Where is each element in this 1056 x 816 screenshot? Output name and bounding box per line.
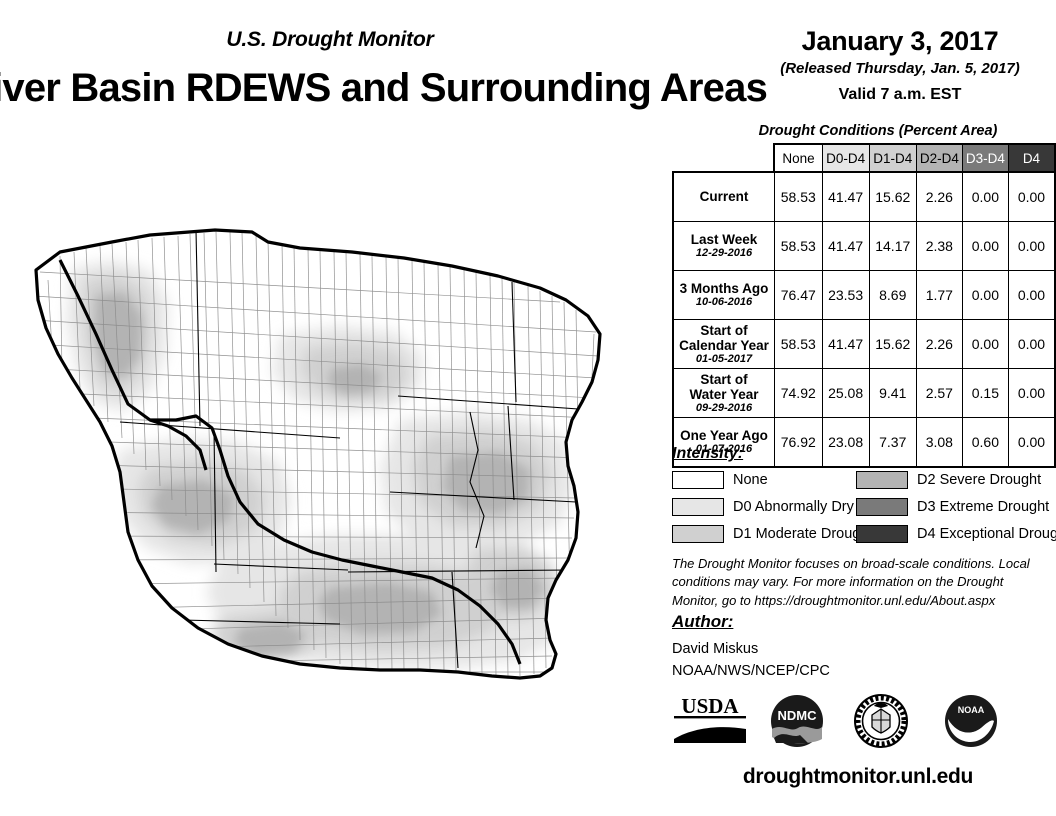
intensity-legend-left: None D0 Abnormally Dry D1 Moderate Droug… xyxy=(672,468,872,549)
cell-current-none: 58.53 xyxy=(774,172,822,222)
valid-time: Valid 7 a.m. EST xyxy=(744,86,1056,104)
col-header-d1d4: D1-D4 xyxy=(869,144,916,172)
table-header-row: None D0-D4 D1-D4 D2-D4 D3-D4 D4 xyxy=(673,144,1055,172)
table-body: Current 58.53 41.47 15.62 2.26 0.00 0.00… xyxy=(673,172,1055,467)
disclaimer-text: The Drought Monitor focuses on broad-sca… xyxy=(672,555,1052,610)
svg-text:USDA: USDA xyxy=(681,694,739,718)
intensity-legend-right: D2 Severe Drought D3 Extreme Drought D4 … xyxy=(856,468,1056,549)
page-supertitle: U.S. Drought Monitor xyxy=(0,28,660,52)
cell-current-d3d4: 0.00 xyxy=(962,172,1008,222)
legend-label-d4: D4 Exceptional Drought xyxy=(917,526,1056,542)
cell-calyear-d3d4: 0.00 xyxy=(962,320,1008,369)
intensity-heading: Intensity: xyxy=(672,445,743,463)
legend-item-d1: D1 Moderate Drought xyxy=(672,522,872,546)
row-label-start-water-year: Start of Water Year 09-29-2016 xyxy=(673,369,774,418)
row-label-3-months-ago: 3 Months Ago 10-06-2016 xyxy=(673,271,774,320)
table-corner-cell xyxy=(673,144,774,172)
cell-wateryear-d4: 0.00 xyxy=(1008,369,1055,418)
table-row: Last Week 12-29-2016 58.53 41.47 14.17 2… xyxy=(673,222,1055,271)
legend-label-d3: D3 Extreme Drought xyxy=(917,499,1049,515)
col-header-d3d4: D3-D4 xyxy=(962,144,1008,172)
cell-3months-d1d4: 8.69 xyxy=(869,271,916,320)
col-header-none: None xyxy=(774,144,822,172)
row-label-text: 3 Months Ago xyxy=(680,281,769,296)
cell-oneyear-d2d4: 3.08 xyxy=(916,418,962,468)
table-header: None D0-D4 D1-D4 D2-D4 D3-D4 D4 xyxy=(673,144,1055,172)
swatch-d3-icon xyxy=(856,498,908,516)
cell-calyear-d4: 0.00 xyxy=(1008,320,1055,369)
legend-label-d0: D0 Abnormally Dry xyxy=(733,499,854,515)
row-label-last-week: Last Week 12-29-2016 xyxy=(673,222,774,271)
cell-lastweek-d4: 0.00 xyxy=(1008,222,1055,271)
cell-3months-d4: 0.00 xyxy=(1008,271,1055,320)
cell-calyear-none: 58.53 xyxy=(774,320,822,369)
row-label-date: 09-29-2016 xyxy=(677,402,771,414)
cell-oneyear-d0d4: 23.08 xyxy=(822,418,869,468)
valid-date: January 3, 2017 xyxy=(744,26,1056,57)
row-label-date: 12-29-2016 xyxy=(677,247,771,259)
cell-wateryear-d2d4: 2.57 xyxy=(916,369,962,418)
cell-lastweek-d2d4: 2.38 xyxy=(916,222,962,271)
cell-lastweek-none: 58.53 xyxy=(774,222,822,271)
cell-wateryear-d0d4: 25.08 xyxy=(822,369,869,418)
author-heading: Author: xyxy=(672,612,733,632)
col-header-d0d4: D0-D4 xyxy=(822,144,869,172)
usda-logo: USDA xyxy=(670,693,750,754)
row-label-line2: Calendar Year xyxy=(679,338,769,353)
cell-current-d4: 0.00 xyxy=(1008,172,1055,222)
table-row: 3 Months Ago 10-06-2016 76.47 23.53 8.69… xyxy=(673,271,1055,320)
col-header-d2d4: D2-D4 xyxy=(916,144,962,172)
table-row: Current 58.53 41.47 15.62 2.26 0.00 0.00 xyxy=(673,172,1055,222)
swatch-d2-icon xyxy=(856,471,908,489)
row-label-date: 10-06-2016 xyxy=(677,296,771,308)
cell-current-d0d4: 41.47 xyxy=(822,172,869,222)
legend-item-d2: D2 Severe Drought xyxy=(856,468,1056,492)
cell-oneyear-none: 76.92 xyxy=(774,418,822,468)
drought-map[interactable] xyxy=(0,120,660,810)
drought-conditions-table: None D0-D4 D1-D4 D2-D4 D3-D4 D4 Current … xyxy=(672,143,1056,468)
table-caption: Drought Conditions (Percent Area) xyxy=(700,123,1056,139)
cell-current-d2d4: 2.26 xyxy=(916,172,962,222)
legend-label-d1: D1 Moderate Drought xyxy=(733,526,872,542)
date-block: January 3, 2017 (Released Thursday, Jan.… xyxy=(744,26,1056,77)
cell-3months-d0d4: 23.53 xyxy=(822,271,869,320)
cell-calyear-d2d4: 2.26 xyxy=(916,320,962,369)
swatch-d4-icon xyxy=(856,525,908,543)
cell-wateryear-d3d4: 0.15 xyxy=(962,369,1008,418)
row-label-line1: Start of xyxy=(700,323,747,338)
doc-seal-logo xyxy=(852,693,910,754)
cell-lastweek-d3d4: 0.00 xyxy=(962,222,1008,271)
author-info: David Miskus NOAA/NWS/NCEP/CPC xyxy=(672,639,830,683)
svg-text:NDMC: NDMC xyxy=(778,708,818,723)
cell-wateryear-d1d4: 9.41 xyxy=(869,369,916,418)
cell-oneyear-d3d4: 0.60 xyxy=(962,418,1008,468)
cell-3months-d3d4: 0.00 xyxy=(962,271,1008,320)
svg-text:NOAA: NOAA xyxy=(958,705,985,715)
title-block: U.S. Drought Monitor River Basin RDEWS a… xyxy=(0,0,720,120)
cell-calyear-d0d4: 41.47 xyxy=(822,320,869,369)
noaa-logo: NOAA xyxy=(942,693,1000,754)
cell-3months-none: 76.47 xyxy=(774,271,822,320)
row-label-date: 01-05-2017 xyxy=(677,353,771,365)
cell-lastweek-d0d4: 41.47 xyxy=(822,222,869,271)
release-date: (Released Thursday, Jan. 5, 2017) xyxy=(744,60,1056,77)
legend-item-d3: D3 Extreme Drought xyxy=(856,495,1056,519)
author-name: David Miskus xyxy=(672,639,830,661)
table-row: Start of Water Year 09-29-2016 74.92 25.… xyxy=(673,369,1055,418)
row-label-text: Last Week xyxy=(691,232,758,247)
row-label-line1: Start of xyxy=(700,372,747,387)
author-affiliation: NOAA/NWS/NCEP/CPC xyxy=(672,661,830,683)
cell-wateryear-none: 74.92 xyxy=(774,369,822,418)
cell-lastweek-d1d4: 14.17 xyxy=(869,222,916,271)
legend-item-d0: D0 Abnormally Dry xyxy=(672,495,872,519)
table-row: Start of Calendar Year 01-05-2017 58.53 … xyxy=(673,320,1055,369)
legend-label-d2: D2 Severe Drought xyxy=(917,472,1041,488)
legend-item-none: None xyxy=(672,468,872,492)
logo-row: USDA NDMC NOAA xyxy=(660,693,1056,755)
swatch-none-icon xyxy=(672,471,724,489)
row-label-line2: Water Year xyxy=(689,387,758,402)
cell-oneyear-d1d4: 7.37 xyxy=(869,418,916,468)
site-url: droughtmonitor.unl.edu xyxy=(660,765,1056,789)
row-label-current: Current xyxy=(673,172,774,222)
cell-current-d1d4: 15.62 xyxy=(869,172,916,222)
ndmc-logo: NDMC xyxy=(768,693,826,754)
row-label-text: One Year Ago xyxy=(680,428,768,443)
row-label-text: Current xyxy=(700,189,749,204)
cell-3months-d2d4: 1.77 xyxy=(916,271,962,320)
map-svg xyxy=(0,120,660,810)
swatch-d0-icon xyxy=(672,498,724,516)
cell-oneyear-d4: 0.00 xyxy=(1008,418,1055,468)
legend-item-d4: D4 Exceptional Drought xyxy=(856,522,1056,546)
swatch-d1-icon xyxy=(672,525,724,543)
row-label-start-calendar-year: Start of Calendar Year 01-05-2017 xyxy=(673,320,774,369)
col-header-d4: D4 xyxy=(1008,144,1055,172)
legend-label-none: None xyxy=(733,472,768,488)
cell-calyear-d1d4: 15.62 xyxy=(869,320,916,369)
